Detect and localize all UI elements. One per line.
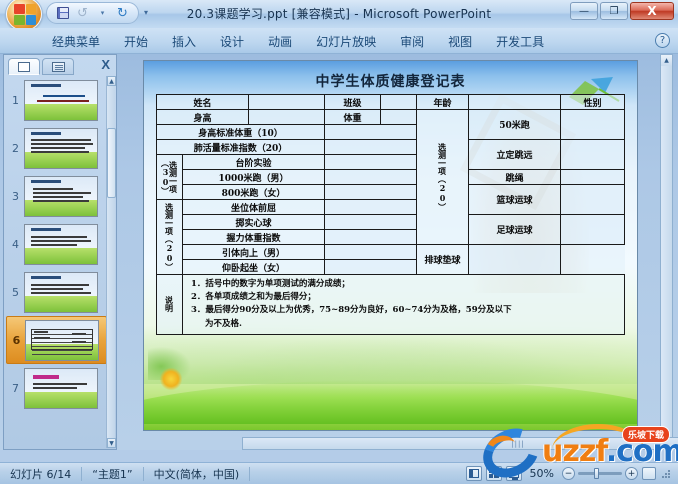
status-bar: 幻灯片 6/14 “主题1” 中文(简体，中国) 50% − + — [0, 462, 678, 484]
chevron-down-icon: ▼ — [109, 440, 114, 447]
slide-thumbnail[interactable] — [24, 80, 98, 121]
thumb-number: 2 — [7, 142, 24, 155]
cell-height-value[interactable] — [249, 110, 325, 125]
zoom-out-button[interactable]: − — [562, 467, 575, 480]
slide-counter[interactable]: 幻灯片 6/14 — [0, 466, 81, 482]
list-item[interactable]: 2 — [6, 124, 107, 172]
thumb-number: 7 — [7, 382, 24, 395]
table-row: 1000米跑（男） 跳绳 — [157, 170, 625, 185]
slide-thumbnail[interactable] — [25, 320, 99, 361]
tab-review[interactable]: 审阅 — [388, 28, 436, 54]
panel-tabs: X — [6, 56, 116, 75]
cell-left2-value-1[interactable] — [325, 200, 417, 215]
green-swoosh-graphic — [143, 380, 638, 424]
thumbnail-scrollbar[interactable]: ▲ ▼ — [106, 76, 115, 448]
slide-thumbnail[interactable] — [24, 272, 98, 313]
cell-left2-value-2[interactable] — [325, 215, 417, 230]
thumb-number: 1 — [7, 94, 24, 107]
tab-slideshow[interactable]: 幻灯片放映 — [304, 28, 388, 54]
scroll-up-button[interactable]: ▲ — [107, 76, 116, 86]
normal-view-button[interactable] — [466, 466, 482, 481]
slide-editing-area: 中学生体质健康登记表 姓名 班级 年龄 性别 — [121, 54, 673, 450]
table-row: 身高 体重 选测一项（20） 50米跑 — [157, 110, 625, 125]
slide-thumbnail[interactable] — [24, 224, 98, 265]
cell-right-value-5[interactable] — [561, 215, 625, 245]
cell-vital-capacity-standard: 肺活量标准指数（20） — [157, 140, 325, 155]
slides-tab[interactable] — [8, 58, 40, 75]
table-row: 800米跑（女） 篮球运球 — [157, 185, 625, 200]
tab-home[interactable]: 开始 — [112, 28, 160, 54]
cell-height-label: 身高 — [157, 110, 249, 125]
list-item[interactable]: 5 — [6, 268, 107, 316]
note-line-2: 2．各单项成绩之和为最后得分； — [191, 291, 620, 304]
help-glyph: ? — [660, 35, 665, 46]
cell-left2-value-5[interactable] — [325, 260, 417, 275]
maximize-button[interactable]: ❐ — [600, 2, 628, 20]
cell-gender-label: 性别 — [561, 95, 625, 110]
thumb-number: 6 — [8, 334, 25, 347]
cell-name-label: 姓名 — [157, 95, 249, 110]
cell-age-label: 年龄 — [417, 95, 469, 110]
notes-content[interactable]: 1．括号中的数字为单项测试的满分成绩； 2．各单项成绩之和为最后得分； 3．最后… — [183, 275, 625, 335]
cell-left2-value-3[interactable] — [325, 230, 417, 245]
cell-left-value-1[interactable] — [325, 155, 417, 170]
outline-tab[interactable] — [42, 58, 74, 75]
chevron-up-icon: ▲ — [664, 57, 669, 64]
fit-slide-button[interactable] — [642, 467, 656, 480]
language-indicator[interactable]: 中文(简体，中国) — [144, 466, 250, 482]
cell-age-value[interactable] — [469, 95, 561, 110]
tab-label: 开发工具 — [496, 33, 544, 50]
thumb-number: 4 — [7, 238, 24, 251]
minus-icon: − — [565, 469, 573, 479]
list-item[interactable]: 7 — [6, 364, 107, 412]
slide-thumbnail[interactable] — [24, 368, 98, 409]
chevron-up-icon: ▲ — [109, 78, 114, 85]
cell-right-value-6[interactable] — [469, 245, 561, 275]
close-icon: X — [647, 4, 656, 18]
close-icon: X — [101, 57, 110, 72]
cell-left2-item-5: 仰卧起坐（女） — [183, 260, 325, 275]
tab-label: 开始 — [124, 33, 148, 50]
flower-graphic-icon — [158, 366, 184, 392]
table-row: 姓名 班级 年龄 性别 — [157, 95, 625, 110]
zoom-level[interactable]: 50% — [526, 467, 558, 480]
slide-thumbnail[interactable] — [24, 176, 98, 217]
tab-label: 动画 — [268, 33, 292, 50]
normal-view-icon — [469, 469, 479, 478]
table-row-notes: 说明 1．括号中的数字为单项测试的满分成绩； 2．各单项成绩之和为最后得分； 3… — [157, 275, 625, 335]
list-item[interactable]: 1 — [6, 76, 107, 124]
theme-name[interactable]: “主题1” — [82, 466, 142, 482]
cell-left-value-2[interactable] — [325, 170, 417, 185]
note-line-4: 为不及格. — [191, 318, 620, 331]
cell-height-weight-value[interactable] — [325, 125, 417, 140]
minimize-icon: — — [579, 6, 589, 17]
cell-weight-label: 体重 — [325, 110, 381, 125]
cell-height-weight-standard: 身高标准体重（10） — [157, 125, 325, 140]
divider — [249, 467, 250, 481]
horizontal-scrollbar[interactable]: |||| — [242, 437, 678, 450]
thumb-number: 3 — [7, 190, 24, 203]
slide-title: 中学生体质健康登记表 — [144, 71, 637, 91]
cell-left2-item-3: 握力体重指数 — [183, 230, 325, 245]
scrollbar-thumb[interactable] — [107, 128, 116, 198]
zoom-in-button[interactable]: + — [625, 467, 638, 480]
slide-sorter-icon — [489, 469, 499, 478]
cell-right-item-1: 50米跑 — [469, 110, 561, 140]
cell-right-value-4[interactable] — [561, 185, 625, 215]
tab-label: 幻灯片放映 — [316, 33, 376, 50]
zoom-track[interactable] — [578, 472, 622, 475]
list-item-selected[interactable]: 6 — [6, 316, 107, 364]
slide-thumbnail-panel: X 1 2 — [3, 54, 117, 450]
tab-label: 经典菜单 — [52, 33, 100, 50]
list-item[interactable]: 3 — [6, 172, 107, 220]
list-item[interactable]: 4 — [6, 220, 107, 268]
help-icon[interactable]: ? — [655, 33, 670, 48]
workspace: X 1 2 — [0, 54, 678, 450]
tab-classic-menu[interactable]: 经典菜单 — [40, 28, 112, 54]
tab-insert[interactable]: 插入 — [160, 28, 208, 54]
slide-sorter-button[interactable] — [486, 466, 502, 481]
status-right-group: 50% − + — [466, 466, 678, 481]
cell-right-value-3[interactable] — [561, 170, 625, 185]
cell-right-item-3: 跳绳 — [469, 170, 561, 185]
resize-grip-icon[interactable] — [660, 468, 672, 480]
scrollbar-grip-icon: |||| — [511, 440, 524, 448]
tab-view[interactable]: 视图 — [436, 28, 484, 54]
cell-right-item-2: 立定跳远 — [469, 140, 561, 170]
tab-label: 插入 — [172, 33, 196, 50]
cell-left-item-2: 1000米跑（男） — [183, 170, 325, 185]
ribbon-tabs: 经典菜单 开始 插入 设计 动画 幻灯片放映 审阅 视图 开发工具 — [40, 28, 556, 54]
title-bar: ↺ ▾ ↻ ▾ 20.3课题学习.ppt [兼容模式] - Microsoft … — [0, 0, 678, 28]
outline-icon — [52, 62, 65, 72]
cell-left2-item-4: 引体向上（男） — [183, 245, 325, 260]
group-label-right: 选测一项（20） — [417, 110, 469, 245]
cell-weight-value[interactable] — [381, 110, 417, 125]
tab-label: 设计 — [220, 33, 244, 50]
cell-left2-item-2: 掷实心球 — [183, 215, 325, 230]
cell-class-value[interactable] — [381, 95, 417, 110]
slides-icon — [18, 62, 30, 72]
thumb-number: 5 — [7, 286, 24, 299]
window-controls: — ❐ X — [570, 2, 674, 20]
cell-vital-capacity-value[interactable] — [325, 140, 417, 155]
cell-right-item-5: 足球运球 — [469, 215, 561, 245]
cell-right-item-6: 排球垫球 — [417, 245, 469, 275]
cell-left2-item-1: 坐位体前屈 — [183, 200, 325, 215]
cell-right-value-1[interactable] — [561, 110, 625, 140]
tab-label: 视图 — [448, 33, 472, 50]
table-row: 掷实心球 足球运球 — [157, 215, 625, 230]
tab-animations[interactable]: 动画 — [256, 28, 304, 54]
group-label-left-2: 选测一项（20） — [157, 200, 183, 275]
vertical-scrollbar[interactable]: ▲ ▼ — [660, 54, 673, 450]
tab-label: 审阅 — [400, 33, 424, 50]
panel-close-button[interactable]: X — [101, 57, 110, 72]
slideshow-icon — [509, 469, 519, 478]
cell-left-item-3: 800米跑（女） — [183, 185, 325, 200]
plus-icon: + — [628, 469, 636, 479]
cell-left2-value-4[interactable] — [325, 245, 417, 260]
zoom-knob[interactable] — [594, 468, 599, 479]
note-line-1: 1．括号中的数字为单项测试的满分成绩； — [191, 278, 620, 291]
health-registration-table[interactable]: 姓名 班级 年龄 性别 身高 体重 选测一项（20） — [156, 94, 625, 335]
cell-class-label: 班级 — [325, 95, 381, 110]
note-line-3: 3．最后得分90分及以上为优秀，75~89分为良好，60~74分为及格，59分及… — [191, 304, 620, 317]
current-slide[interactable]: 中学生体质健康登记表 姓名 班级 年龄 性别 — [143, 60, 638, 431]
thumbnail-list: 1 2 3 — [6, 76, 107, 448]
minimize-button[interactable]: — — [570, 2, 598, 20]
table-row: 肺活量标准指数（20） 立定跳远 — [157, 140, 625, 155]
maximize-icon: ❐ — [610, 6, 619, 17]
cell-right-value-2[interactable] — [561, 140, 625, 170]
cell-left-value-3[interactable] — [325, 185, 417, 200]
slide-thumbnail[interactable] — [24, 128, 98, 169]
scroll-up-button[interactable]: ▲ — [661, 55, 672, 66]
close-button[interactable]: X — [630, 2, 674, 20]
slideshow-button[interactable] — [506, 466, 522, 481]
tab-design[interactable]: 设计 — [208, 28, 256, 54]
cell-name-value[interactable] — [249, 95, 325, 110]
scroll-down-button[interactable]: ▼ — [107, 438, 116, 448]
cell-left-item-1: 台阶实验 — [183, 155, 325, 170]
tab-developer[interactable]: 开发工具 — [484, 28, 556, 54]
ribbon-tab-bar: 经典菜单 开始 插入 设计 动画 幻灯片放映 审阅 视图 开发工具 ? — [0, 28, 678, 54]
group-label-left-1: 选测一项（30） — [157, 155, 183, 200]
notes-label: 说明 — [157, 275, 183, 335]
cell-right-item-4: 篮球运球 — [469, 185, 561, 215]
table-row: 引体向上（男） 排球垫球 — [157, 245, 625, 260]
zoom-slider[interactable]: − + — [562, 467, 638, 480]
